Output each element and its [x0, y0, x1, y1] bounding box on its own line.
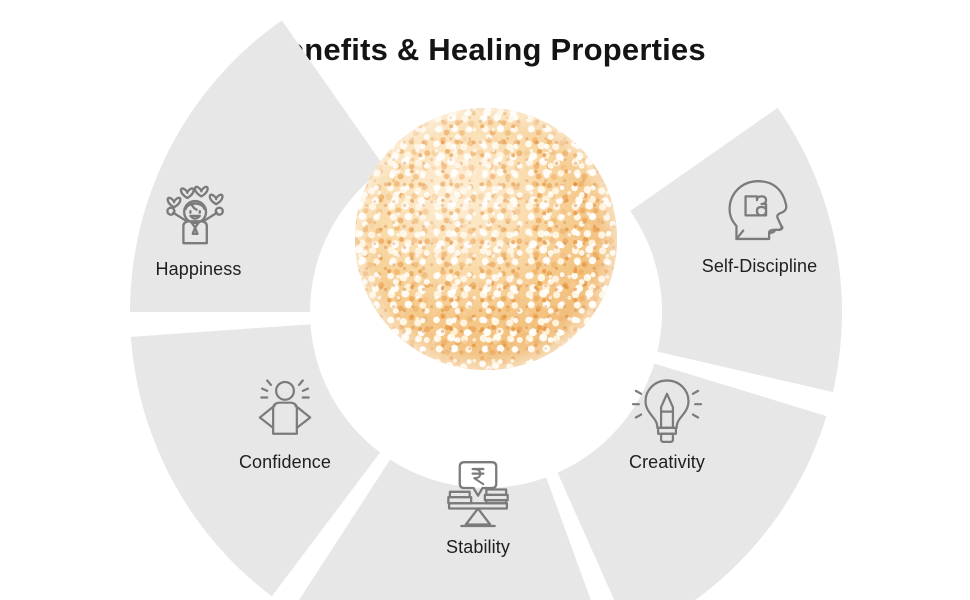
crystal-vignette-layer — [355, 108, 617, 370]
wheel-segment-self-discipline[interactable] — [630, 108, 842, 392]
wheel-segment-creativity[interactable] — [558, 363, 827, 600]
wheel-segment-happiness[interactable] — [130, 20, 385, 312]
citrine-crystal-image — [355, 108, 617, 370]
infographic-canvas: Benefits & Healing Properties HappinessC… — [0, 0, 970, 600]
